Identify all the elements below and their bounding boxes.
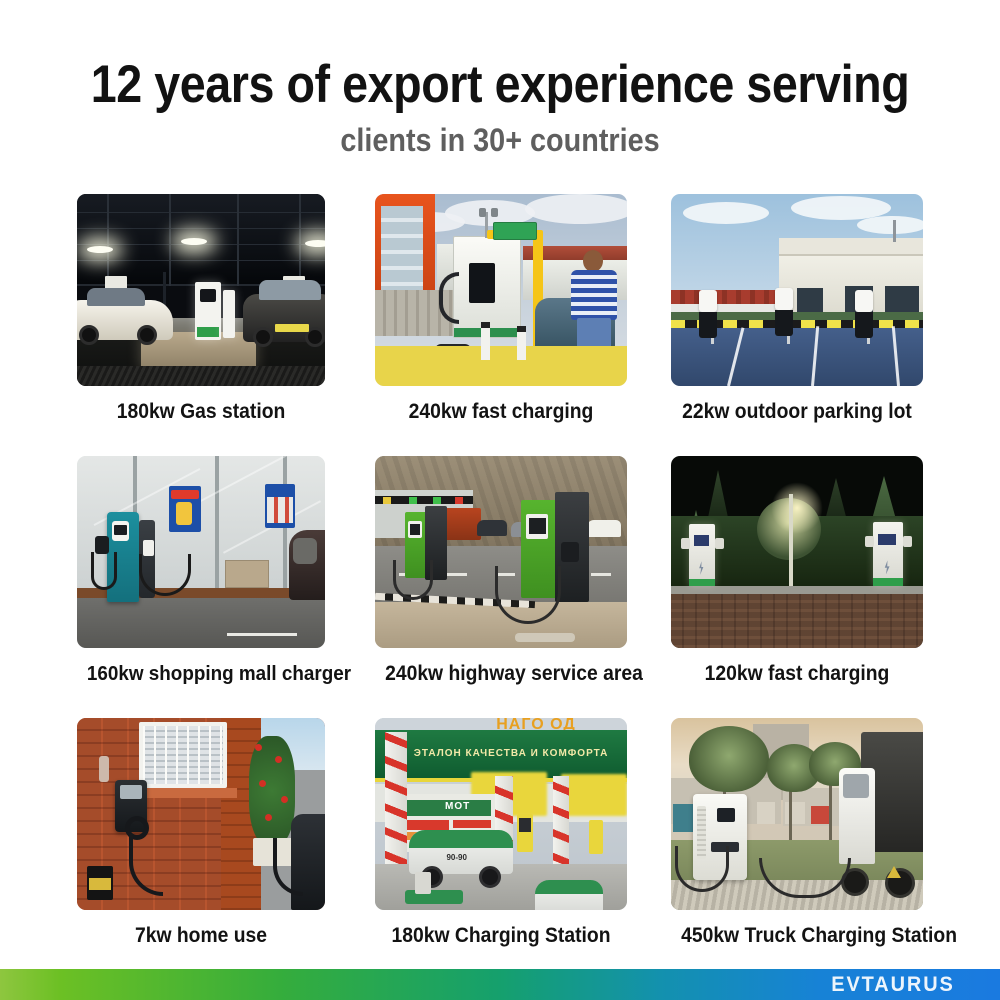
photo-truck-charging-dusk <box>671 718 923 910</box>
photo-highway-toll-plaza <box>375 456 627 648</box>
gallery-item[interactable]: 180kw Gas station <box>77 194 325 424</box>
gallery-item[interactable]: 160kw shopping mall charger <box>77 456 325 686</box>
gallery-item[interactable]: 450kw Truck Charging Station <box>671 718 923 948</box>
page-title: 12 years of export experience serving <box>60 56 940 114</box>
shop-sign-text: MOT <box>445 801 485 815</box>
photo-caption: 120kw fast charging <box>681 662 913 686</box>
photo-tropical-street-charger <box>375 194 627 386</box>
page-subtitle: clients in 30+ countries <box>50 122 950 158</box>
photo-caption: 7kw home use <box>87 924 315 948</box>
gallery-item[interactable]: 240kw fast charging <box>375 194 627 424</box>
brand-logo-text: EVTAURUS <box>831 973 954 997</box>
photo-caption: 22kw outdoor parking lot <box>681 400 913 424</box>
photo-caption: 450kw Truck Charging Station <box>681 924 913 948</box>
gallery-item[interactable]: 120kw fast charging <box>671 456 923 686</box>
photo-night-park-chargers <box>671 456 923 648</box>
photo-caption: 240kw fast charging <box>385 400 617 424</box>
gallery-item[interactable]: 240kw highway service area <box>375 456 627 686</box>
gallery-item[interactable]: 7kw home use <box>77 718 325 948</box>
photo-night-canopy-gas-station <box>77 194 325 386</box>
gallery-item[interactable]: 22kw outdoor parking lot <box>671 194 923 424</box>
photo-caption: 160kw shopping mall charger <box>87 662 315 686</box>
station-banner-text: ЭТАЛОН КАЧЕСТВА И КОМФОРТА <box>405 748 617 759</box>
photo-brick-house-wallbox <box>77 718 325 910</box>
gallery-item[interactable]: НАГО ОД ЭТАЛОН КАЧЕСТВА И КОМФОРТА MOT <box>375 718 627 948</box>
photo-shopping-mall-teal-charger <box>77 456 325 648</box>
header: 12 years of export experience serving cl… <box>0 0 1000 158</box>
gallery-row: 180kw Gas station <box>0 194 1000 456</box>
gallery-row: 160kw shopping mall charger <box>0 456 1000 718</box>
gallery-row: 7kw home use НАГО ОД ЭТАЛОН КАЧЕСТВА И К… <box>0 718 1000 980</box>
footer-bar: EVTAURUS <box>0 969 1000 1000</box>
photo-caption: 180kw Charging Station <box>385 924 617 948</box>
taxi-number: 90-90 <box>446 853 466 862</box>
marketing-banner: 12 years of export experience serving cl… <box>0 0 1000 1000</box>
photo-caption: 240kw highway service area <box>385 662 617 686</box>
photo-russian-fuel-station: НАГО ОД ЭТАЛОН КАЧЕСТВА И КОМФОРТА MOT <box>375 718 627 910</box>
photo-caption: 180kw Gas station <box>87 400 315 424</box>
photo-gallery: 180kw Gas station <box>0 194 1000 980</box>
photo-outdoor-parking-lot <box>671 194 923 386</box>
